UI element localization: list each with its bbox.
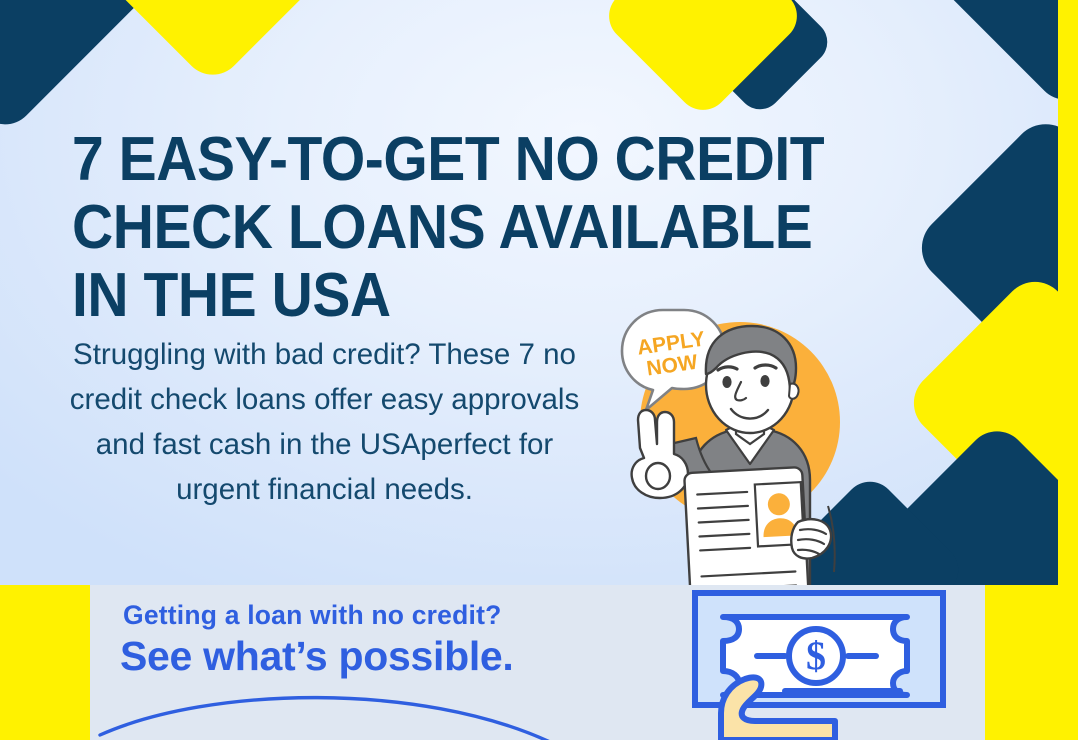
yellow-strip-right <box>1058 0 1078 588</box>
banner-yellow-block-right <box>985 585 1078 740</box>
document-with-photo-icon <box>684 467 810 587</box>
poster-canvas: 7 EASY-TO-GET NO CREDIT CHECK LOANS AVAI… <box>0 0 1078 740</box>
banner-yellow-block-left <box>0 585 90 740</box>
ear-shape <box>789 384 799 399</box>
cta-banner: Getting a loan with no credit? See what’… <box>90 585 985 740</box>
dollar-symbol: $ <box>806 633 826 678</box>
character-illustration: APPLY NOW <box>600 282 865 587</box>
dollar-bill-illustration: $ <box>685 585 985 740</box>
eye-right <box>760 375 769 387</box>
banner-kicker-text: Getting a loan with no credit? <box>123 600 501 631</box>
navy-diamond-top-right <box>914 0 1078 112</box>
eye-left <box>722 376 731 388</box>
subheadline-text: Struggling with bad credit? These 7 no c… <box>62 332 587 512</box>
banner-headline-text: See what’s possible. <box>120 633 514 680</box>
